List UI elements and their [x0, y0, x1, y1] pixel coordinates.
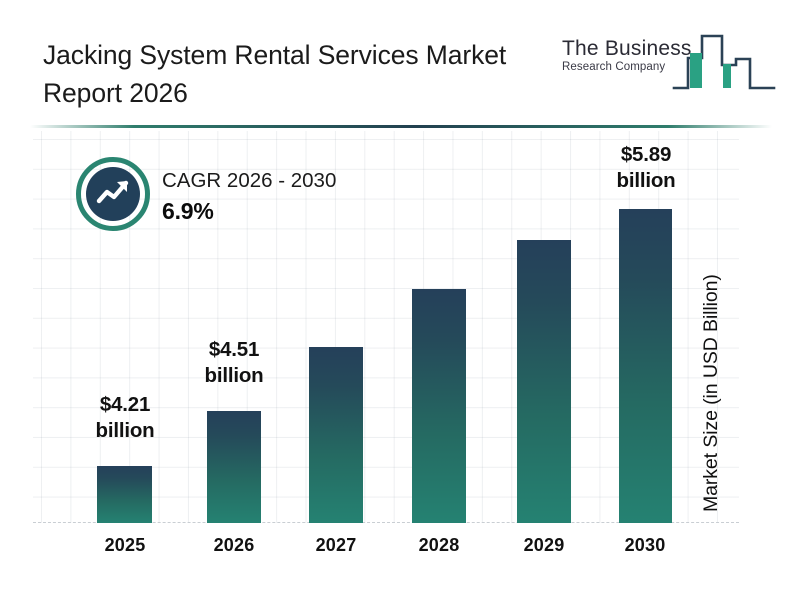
bar-value-label-2026-amount: $4.51	[179, 337, 289, 363]
x-tick-2029: 2029	[489, 535, 599, 556]
bar-value-label-2026-unit: billion	[179, 363, 289, 389]
header: Jacking System Rental Services Market Re…	[0, 0, 800, 127]
x-tick-2026: 2026	[179, 535, 289, 556]
bar-2025[interactable]	[97, 466, 152, 523]
page-title: Jacking System Rental Services Market Re…	[43, 36, 543, 112]
x-tick-2030: 2030	[590, 535, 700, 556]
x-tick-2025: 2025	[70, 535, 180, 556]
x-tick-2028: 2028	[384, 535, 494, 556]
bar-value-label-2026: $4.51 billion	[179, 337, 289, 389]
company-logo: The Business Research Company	[562, 31, 777, 101]
bar-value-label-2030: $5.89 billion	[591, 142, 701, 194]
cagr-callout: CAGR 2026 - 2030 6.9%	[162, 167, 336, 227]
header-divider	[30, 125, 772, 128]
chart-page: Jacking System Rental Services Market Re…	[0, 0, 800, 600]
bar-2027[interactable]	[309, 347, 363, 523]
bar-2030[interactable]	[619, 209, 672, 523]
bar-value-label-2025-amount: $4.21	[70, 392, 180, 418]
bar-value-label-2030-amount: $5.89	[591, 142, 701, 168]
bar-2029[interactable]	[517, 240, 571, 523]
bar-2028[interactable]	[412, 289, 466, 523]
bar-chart-logo-icon	[672, 31, 777, 95]
x-tick-2027: 2027	[281, 535, 391, 556]
cagr-value-label: 6.9%	[162, 195, 336, 227]
bar-value-label-2025: $4.21 billion	[70, 392, 180, 444]
cagr-badge-icon	[76, 157, 150, 231]
y-axis-title: Market Size (in USD Billion)	[700, 0, 723, 212]
bar-value-label-2025-unit: billion	[70, 418, 180, 444]
bar-2026[interactable]	[207, 411, 261, 523]
cagr-range-label: CAGR 2026 - 2030	[162, 167, 336, 195]
bar-value-label-2030-unit: billion	[591, 168, 701, 194]
y-axis-title-text: Market Size (in USD Billion)	[700, 212, 723, 512]
